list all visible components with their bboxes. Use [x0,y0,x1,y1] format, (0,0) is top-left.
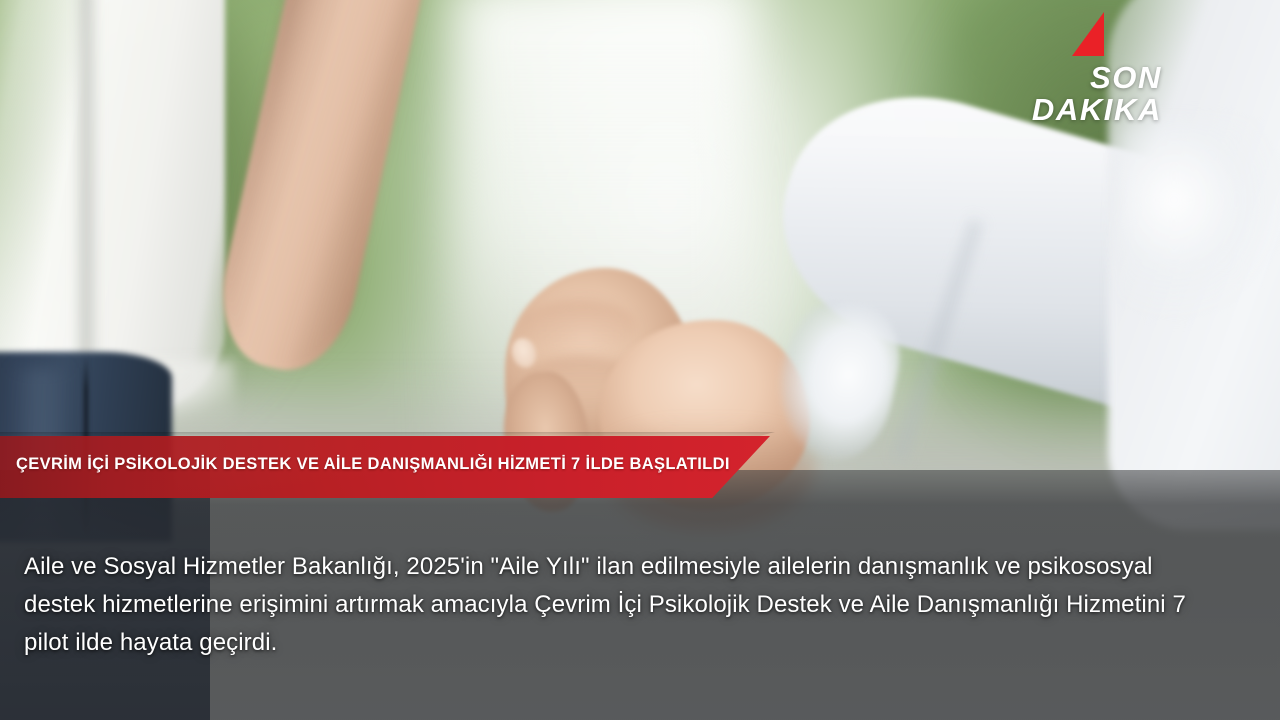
headline-title: ÇEVRİM İÇİ PSİKOLOJİK DESTEK VE AİLE DAN… [16,455,730,474]
breaking-news-badge: SON DAKIKA [1032,62,1162,125]
photo-adult-blouse-fold [74,0,100,410]
summary-paragraph: Aile ve Sosyal Hizmetler Bakanlığı, 2025… [24,548,1214,662]
breaking-news-line-2: DAKIKA [1032,94,1162,126]
photo-child-shoulder [1120,120,1280,320]
news-card: SON DAKIKA ÇEVRİM İÇİ PSİKOLOJİK DESTEK … [0,0,1280,720]
photo-adult-knuckles-upper [520,300,638,352]
breaking-news-label: SON DAKIKA [1032,62,1162,125]
breaking-news-line-1: SON [1032,62,1162,94]
breaking-news-triangle-icon [1072,12,1104,56]
